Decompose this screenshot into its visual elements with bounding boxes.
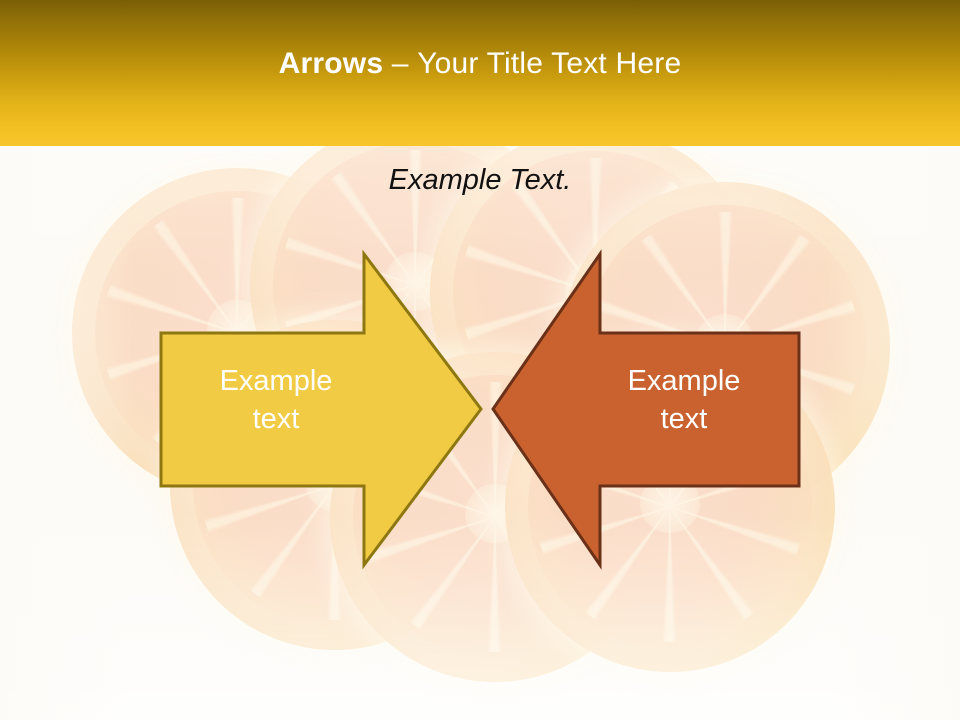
arrows-diagram: Example text Example text [0, 0, 960, 720]
left-arrow-label: Example text [176, 363, 376, 438]
right-arrow-label: Example text [584, 363, 784, 438]
arrows-svg [0, 0, 960, 720]
slide-canvas: Arrows – Your Title Text Here Example Te… [0, 0, 960, 720]
